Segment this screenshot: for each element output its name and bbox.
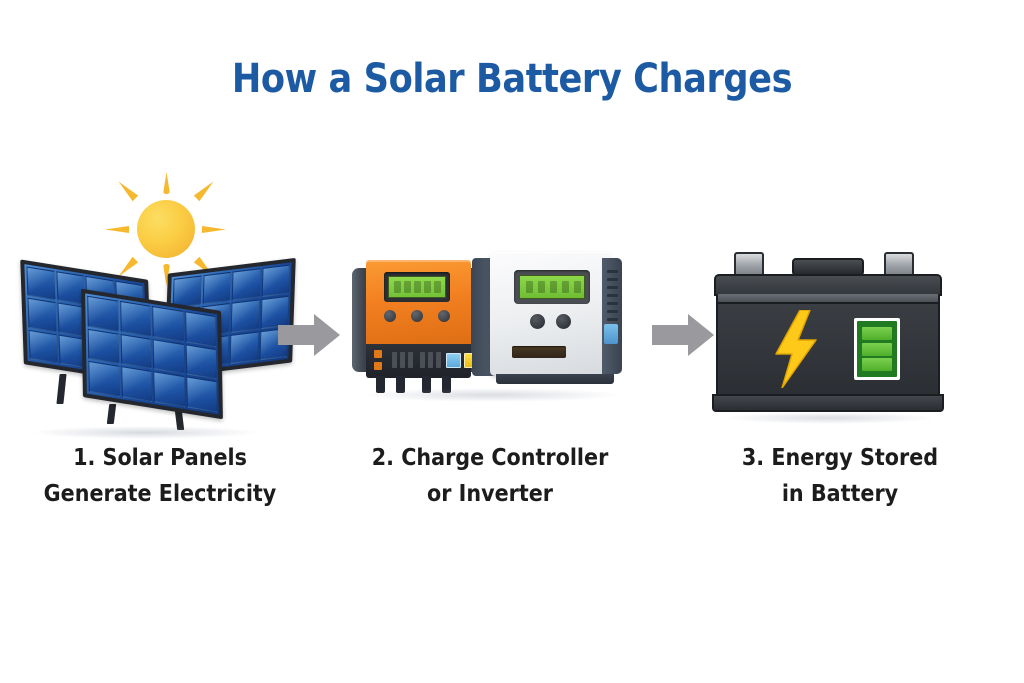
step-3-caption-line1: 3. Energy Stored (705, 440, 975, 476)
inverter-front-face (490, 252, 610, 376)
arrow-step1-to-step2 (278, 312, 340, 358)
page-title: How a Solar Battery Charges (61, 56, 962, 102)
step-1-caption-line1: 1. Solar Panels (25, 440, 295, 476)
controller-button-2[interactable] (411, 310, 423, 322)
step-3-caption: 3. Energy Stored in Battery (705, 440, 975, 512)
inverter-body (472, 252, 622, 380)
battery-illustration (690, 160, 990, 425)
devices-ground-shadow (360, 388, 622, 402)
sun-ray-northeast (194, 179, 217, 202)
inverter-buttons[interactable] (530, 314, 574, 330)
step-3-caption-line2: in Battery (705, 476, 975, 512)
solar-panel-array (16, 264, 306, 419)
charge-bar (862, 327, 892, 340)
sun-ray-east (202, 226, 226, 233)
terminal-indicator-orange (374, 350, 382, 358)
controller-lcd-bezel (384, 272, 450, 302)
sun-ray-northwest (116, 179, 139, 202)
charge-level-indicator (854, 318, 900, 380)
controller-buttons[interactable] (384, 310, 452, 326)
battery-graphic (706, 252, 976, 424)
lightning-bolt-icon (770, 310, 822, 388)
inverter-cooling-vents (602, 258, 622, 374)
controller-lcd-screen (388, 276, 446, 298)
infographic-canvas: How a Solar Battery Charges (0, 0, 1024, 683)
charge-controller-body (366, 260, 471, 346)
step-2-caption-line2: or Inverter (355, 476, 625, 512)
battery-ground-shadow (722, 412, 936, 424)
panel-leg (56, 374, 66, 404)
inverter-base (496, 374, 614, 384)
inverter-lcd-bezel (514, 270, 590, 304)
step-2-caption-line1: 2. Charge Controller (355, 440, 625, 476)
charge-indicator-field (857, 321, 897, 377)
solar-panel (81, 289, 223, 420)
panel-ground-shadow (30, 426, 260, 439)
controller-inverter-illustration (340, 160, 640, 425)
sun-core (137, 200, 195, 258)
controller-button-1[interactable] (384, 310, 396, 322)
step-2-caption: 2. Charge Controller or Inverter (355, 440, 625, 512)
charge-bar (862, 358, 892, 371)
solar-panels-illustration (10, 160, 310, 425)
inverter-vent-grille (512, 346, 566, 358)
inverter-button-1[interactable] (530, 314, 545, 329)
battery-case (716, 302, 940, 396)
battery-base (712, 394, 944, 412)
step-1-caption-line2: Generate Electricity (25, 476, 295, 512)
sun-ray-west (105, 226, 129, 233)
right-arrow-icon (278, 312, 340, 358)
step-1-caption: 1. Solar Panels Generate Electricity (25, 440, 295, 512)
sun-ray-north (163, 172, 170, 194)
controller-terminal-strip (366, 344, 471, 378)
inverter-button-2[interactable] (556, 314, 571, 329)
panel-leg (107, 404, 116, 424)
terminal-indicator-blue (446, 353, 461, 368)
inverter-lcd-screen (519, 275, 585, 299)
devices-group (346, 248, 638, 418)
controller-button-3[interactable] (438, 310, 450, 322)
battery-lid (714, 274, 942, 296)
charge-bar (862, 343, 892, 356)
terminal-indicator-orange (374, 362, 382, 370)
inverter-indicator-blue (604, 324, 618, 344)
panel-glass (85, 293, 219, 414)
